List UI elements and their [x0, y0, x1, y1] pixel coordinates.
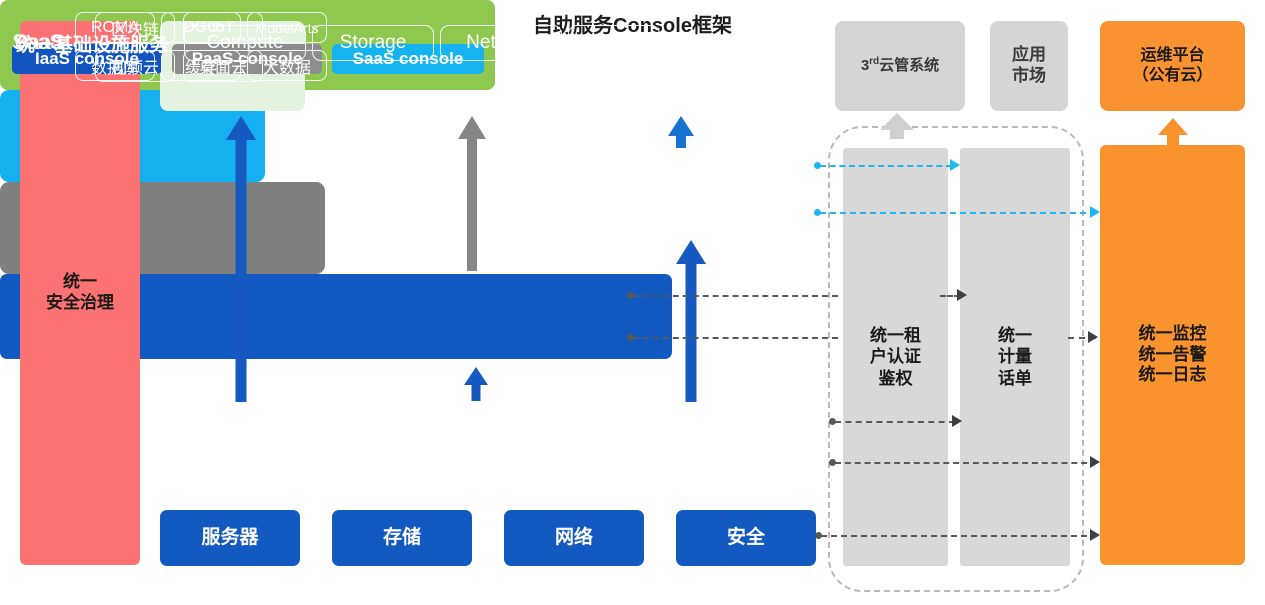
arrow-saas-to-console — [668, 116, 694, 148]
ops-body-line-2: 统一告警 — [1139, 345, 1207, 366]
connector-arrowhead-hardware-ops — [1090, 529, 1100, 541]
connector-saas-to-ops — [820, 212, 1096, 214]
meter-line-2: 计量 — [998, 346, 1032, 367]
app-market-box: 应用 市场 — [990, 21, 1068, 111]
meter-line-1: 统一 — [998, 325, 1032, 346]
connector-paas-to-metering — [633, 337, 838, 339]
unified-tenant-auth-column: 统一租 户认证 鉴权 — [843, 148, 948, 566]
ops-top-line-2: （公有云） — [1132, 66, 1212, 86]
connector-arrowhead-saas-1 — [950, 159, 960, 171]
unified-metering-billing-column: 统一 计量 话单 — [960, 148, 1070, 566]
connector-arrowhead-saas-2 — [1090, 206, 1100, 218]
third-party-label: 3rd云管系统 — [861, 56, 939, 75]
connector-iaas-to-ops — [835, 462, 1097, 464]
iaas-service-storage[interactable]: Storage — [312, 25, 434, 61]
connector-hardware-to-ops — [821, 535, 1097, 537]
connector-iaas-to-auth — [835, 421, 955, 423]
connector-arrowhead-iaas-auth — [952, 415, 962, 427]
unified-monitoring-panel: 统一监控 统一告警 统一日志 — [1100, 145, 1245, 565]
ops-top-line-1: 运维平台 — [1132, 46, 1212, 66]
arrow-iaas-to-api-gateway — [226, 116, 256, 402]
ops-body-line-1: 统一监控 — [1139, 324, 1207, 345]
security-line-2: 安全治理 — [46, 293, 114, 314]
unified-security-governance-panel: 统一 安全治理 — [20, 21, 140, 565]
iaas-service-compute[interactable]: Compute — [184, 25, 306, 61]
connector-saas-to-metering — [820, 165, 952, 167]
ops-body-line-3: 统一日志 — [1139, 365, 1207, 386]
hardware-security-box: 安全 — [676, 510, 816, 566]
iaas-service-network[interactable]: Network — [440, 25, 562, 61]
iaas-layer-label: 统一基础设施服务 — [16, 30, 168, 57]
architecture-diagram: 统一 安全治理 API网关 自助服务Console框架 IaaS console… — [0, 0, 1265, 605]
arrow-paas-to-console — [458, 116, 486, 271]
iaas-service-cce[interactable]: CCE — [568, 25, 660, 61]
hardware-storage-box: 存储 — [332, 510, 472, 566]
security-line-1: 统一 — [46, 272, 114, 293]
auth-line-2: 户认证 — [870, 346, 921, 367]
connector-arrowhead-auth-metering — [957, 289, 967, 301]
auth-line-3: 鉴权 — [870, 368, 921, 389]
arrow-iaas-to-saas — [676, 240, 706, 402]
arrow-iaas-to-paas — [464, 367, 488, 401]
third-party-cloud-management-box: 3rd云管系统 — [835, 21, 965, 111]
meter-line-3: 话单 — [998, 368, 1032, 389]
third-party-superscript: rd — [869, 56, 879, 67]
connector-paas-to-auth — [633, 295, 838, 297]
arrow-shared-to-third-party — [880, 113, 914, 139]
auth-line-1: 统一租 — [870, 325, 921, 346]
app-market-line-2: 市场 — [1012, 66, 1046, 87]
app-market-line-1: 应用 — [1012, 45, 1046, 66]
ops-platform-public-cloud-box: 运维平台 （公有云） — [1100, 21, 1245, 111]
connector-arrowhead-metering-ops — [1088, 331, 1098, 343]
hardware-server-box: 服务器 — [160, 510, 300, 566]
arrow-ops-body-to-ops-top — [1158, 118, 1188, 146]
connector-arrowhead-iaas-ops — [1090, 456, 1100, 468]
hardware-network-box: 网络 — [504, 510, 644, 566]
